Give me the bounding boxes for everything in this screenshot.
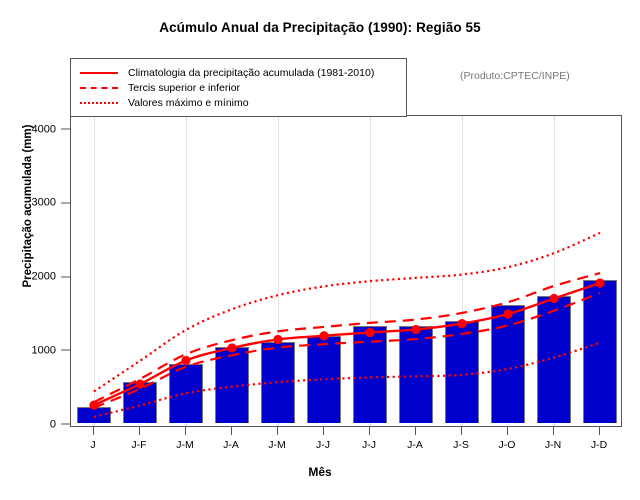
x-tick-label: J-A — [407, 439, 423, 451]
x-tick-label: J-D — [591, 439, 607, 451]
x-tick-mark — [139, 427, 140, 435]
y-tick-mark — [61, 202, 70, 203]
series-line — [94, 283, 600, 405]
x-tick-mark — [553, 427, 554, 435]
legend-label: Climatologia da precipitação acumulada (… — [128, 67, 374, 79]
y-tick-mark — [61, 276, 70, 277]
data-point-marker — [319, 331, 328, 340]
data-point-marker — [457, 319, 466, 328]
y-tick-mark — [61, 350, 70, 351]
x-tick: J-D — [569, 427, 629, 457]
y-tick: 3000 — [0, 202, 70, 203]
data-point-marker — [227, 343, 236, 352]
y-axis-ticks: 01000200030004000 — [0, 0, 70, 500]
legend-item: Tercis superior e inferior — [77, 80, 398, 95]
chart-root: Acúmulo Anual da Precipitação (1990): Re… — [0, 0, 640, 500]
chart-legend: Climatologia da precipitação acumulada (… — [70, 58, 407, 117]
data-point-marker — [135, 379, 144, 388]
x-tick-label: J-F — [131, 439, 146, 451]
x-tick-mark — [231, 427, 232, 435]
legend-key-dashed-icon — [77, 82, 121, 94]
y-tick-mark — [61, 424, 70, 425]
plot-inner — [71, 116, 621, 426]
y-tick: 4000 — [0, 129, 70, 130]
x-tick-label: J-M — [268, 439, 286, 451]
data-point-marker — [503, 309, 512, 318]
climatology-overlay — [71, 116, 621, 426]
x-tick-mark — [277, 427, 278, 435]
x-axis-ticks: JJ-FJ-MJ-AJ-MJ-JJ-JJ-AJ-SJ-OJ-NJ-D — [0, 427, 640, 487]
legend-key-dotted-icon — [77, 97, 121, 109]
x-tick-label: J-S — [453, 439, 469, 451]
x-tick-mark — [415, 427, 416, 435]
legend-label: Valores máximo e mínimo — [128, 97, 249, 109]
x-tick-label: J-J — [316, 439, 330, 451]
x-tick-mark — [185, 427, 186, 435]
data-point-marker — [595, 278, 604, 287]
data-point-marker — [181, 356, 190, 365]
plot-area — [70, 115, 622, 427]
x-tick-mark — [507, 427, 508, 435]
y-tick-label: 2000 — [32, 271, 56, 283]
legend-key-solid-icon — [77, 67, 121, 79]
legend-item: Valores máximo e mínimo — [77, 95, 398, 110]
y-tick-label: 1000 — [32, 344, 56, 356]
y-tick-label: 3000 — [32, 197, 56, 209]
y-tick-label: 4000 — [32, 123, 56, 135]
x-tick-mark — [461, 427, 462, 435]
legend-label: Tercis superior e inferior — [128, 82, 240, 94]
x-tick-label: J-N — [545, 439, 561, 451]
y-tick-mark — [61, 129, 70, 130]
data-point-marker — [549, 294, 558, 303]
y-tick: 0 — [0, 424, 70, 425]
data-point-marker — [365, 328, 374, 337]
x-tick-mark — [323, 427, 324, 435]
data-point-marker — [273, 335, 282, 344]
y-tick: 1000 — [0, 350, 70, 351]
x-tick-label: J-O — [499, 439, 516, 451]
x-tick-label: J-M — [176, 439, 194, 451]
data-point-marker — [411, 325, 420, 334]
page-title: Acúmulo Anual da Precipitação (1990): Re… — [0, 20, 640, 35]
series-line — [94, 273, 600, 402]
x-tick-mark — [599, 427, 600, 435]
x-tick-mark — [93, 427, 94, 435]
produto-note: (Produto:CPTEC/INPE) — [460, 70, 570, 82]
x-tick-mark — [369, 427, 370, 435]
data-point-marker — [89, 400, 98, 409]
x-tick-label: J — [90, 439, 95, 451]
x-tick-label: J-J — [362, 439, 376, 451]
x-tick-label: J-A — [223, 439, 239, 451]
y-tick: 2000 — [0, 276, 70, 277]
legend-item: Climatologia da precipitação acumulada (… — [77, 65, 398, 80]
series-line — [94, 343, 600, 417]
